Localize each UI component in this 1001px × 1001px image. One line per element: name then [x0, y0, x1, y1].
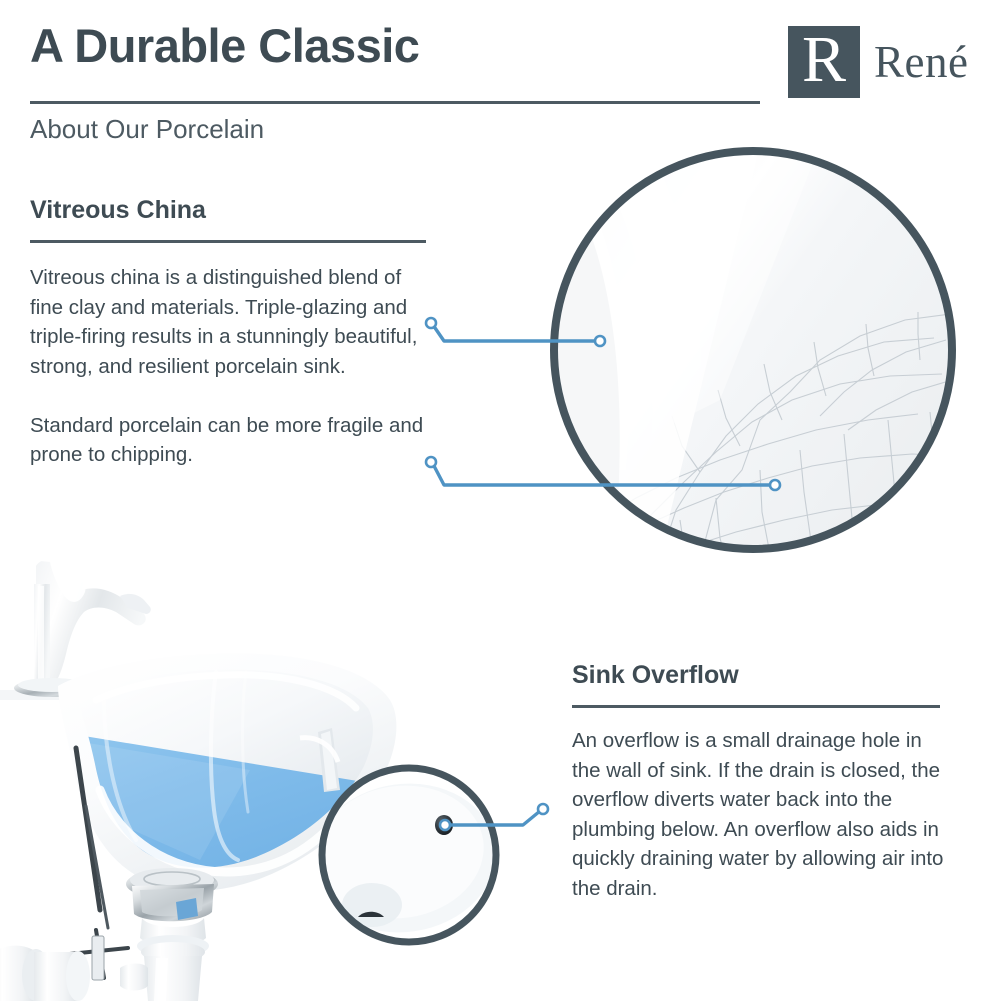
- paragraph: An overflow is a small drainage hole in …: [572, 726, 952, 903]
- section-divider-sink-overflow: [572, 705, 940, 708]
- section-divider-vitreous-china: [30, 240, 426, 243]
- paragraph: Vitreous china is a distinguished blend …: [30, 263, 430, 381]
- section-body-vitreous-china: Vitreous china is a distinguished blend …: [30, 263, 430, 470]
- sink-illustration: [0, 552, 400, 1001]
- paragraph: Standard porcelain can be more fragile a…: [30, 411, 430, 470]
- section-title-sink-overflow: Sink Overflow: [572, 660, 739, 690]
- section-title-vitreous-china: Vitreous China: [30, 195, 206, 225]
- drain-stopper: [120, 868, 218, 1001]
- porcelain-detail-circle: [550, 145, 960, 650]
- p-trap: [0, 946, 90, 1001]
- section-body-sink-overflow: An overflow is a small drainage hole in …: [572, 726, 952, 903]
- infographic-page: A Durable Classic About Our Porcelain R …: [0, 0, 1001, 1001]
